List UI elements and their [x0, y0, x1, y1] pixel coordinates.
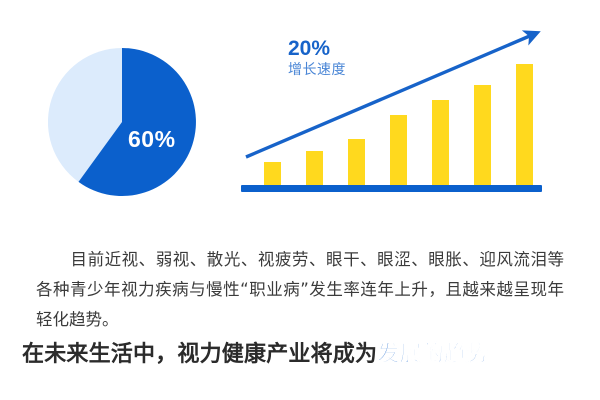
bar-7: [516, 64, 533, 185]
paragraph-text: 目前近视、弱视、散光、视疲劳、眼干、眼涩、眼胀、迎风流泪等各种青少年视力疾病与慢…: [36, 250, 564, 329]
growth-caption-label: 增长速度: [288, 63, 346, 78]
bar-5: [432, 100, 449, 185]
headline-lead: 在未来生活中，视力健康产业将成为: [22, 342, 377, 367]
bar-chart: 20% 增长速度: [232, 20, 562, 200]
pie-chart-svg: [48, 48, 196, 196]
bar-1: [264, 162, 281, 185]
chart-baseline: [241, 185, 542, 192]
bar-chart-svg: [232, 20, 562, 200]
bar-6: [474, 85, 491, 185]
pie-chart: 60%: [48, 48, 196, 196]
headline-accent: 发展的趋势: [377, 342, 488, 367]
bar-3: [348, 139, 365, 185]
growth-annotation: 20% 增长速度: [288, 38, 346, 78]
growth-percent-label: 20%: [288, 38, 346, 60]
bar-2: [306, 151, 323, 185]
pie-value-label: 60%: [128, 128, 176, 151]
body-paragraph: 目前近视、弱视、散光、视疲劳、眼干、眼涩、眼胀、迎风流泪等各种青少年视力疾病与慢…: [36, 245, 564, 335]
infographic-root: 60%: [0, 0, 600, 400]
charts-band: 60%: [0, 0, 600, 212]
bar-4: [390, 115, 407, 185]
headline: 在未来生活中，视力健康产业将成为发展的趋势: [22, 338, 582, 372]
